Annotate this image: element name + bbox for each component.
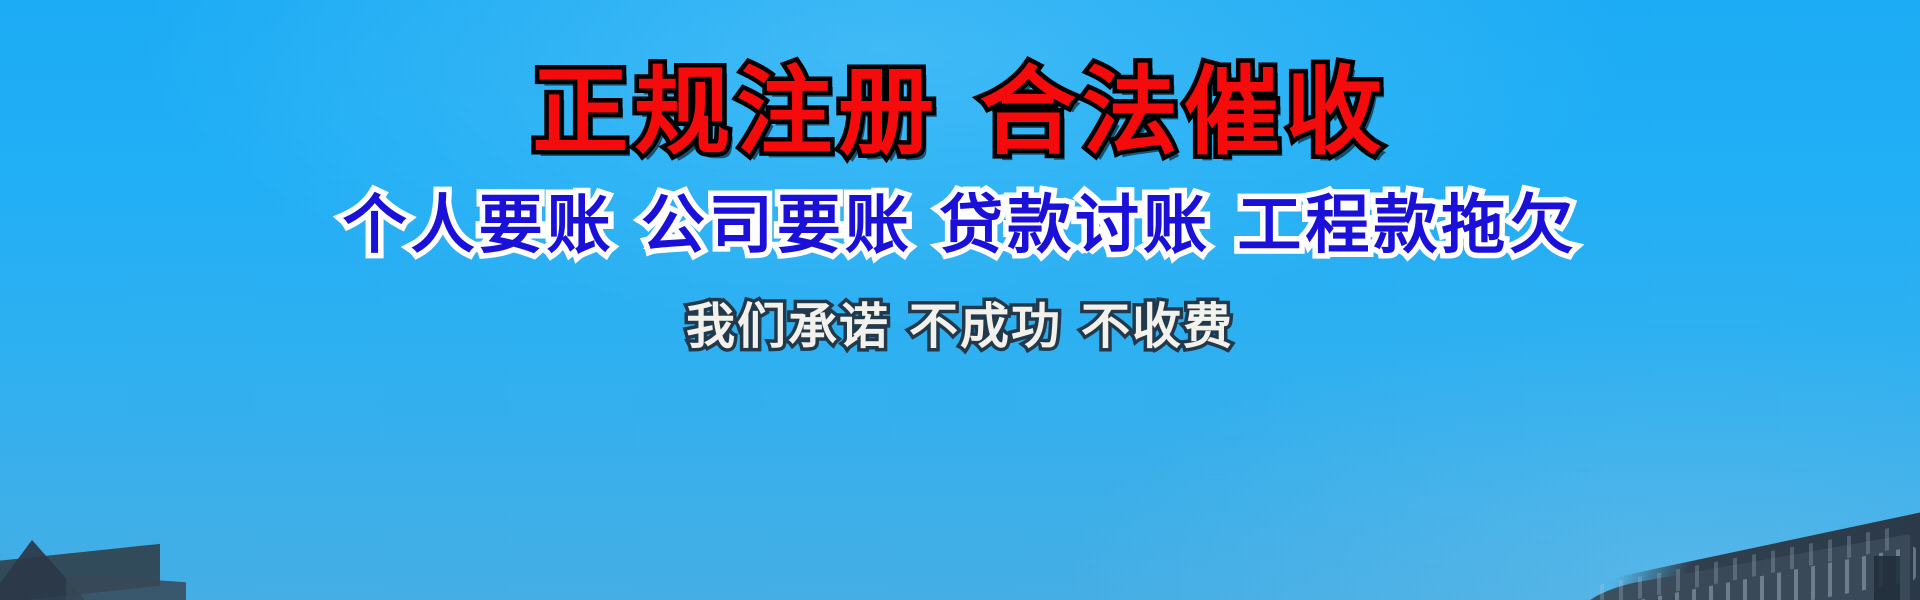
banner-service-list: 个人要账 公司要账 贷款讨账 工程款拖欠	[343, 193, 1578, 260]
promo-banner: 正规注册 合法催收 个人要账 公司要账 贷款讨账 工程款拖欠 我们承诺 不成功 …	[0, 0, 1920, 600]
banner-text-block: 正规注册 合法催收 个人要账 公司要账 贷款讨账 工程款拖欠 我们承诺 不成功 …	[0, 0, 1920, 600]
banner-headline: 正规注册 合法催收	[532, 62, 1387, 163]
banner-slogan: 我们承诺 不成功 不收费	[686, 300, 1234, 354]
